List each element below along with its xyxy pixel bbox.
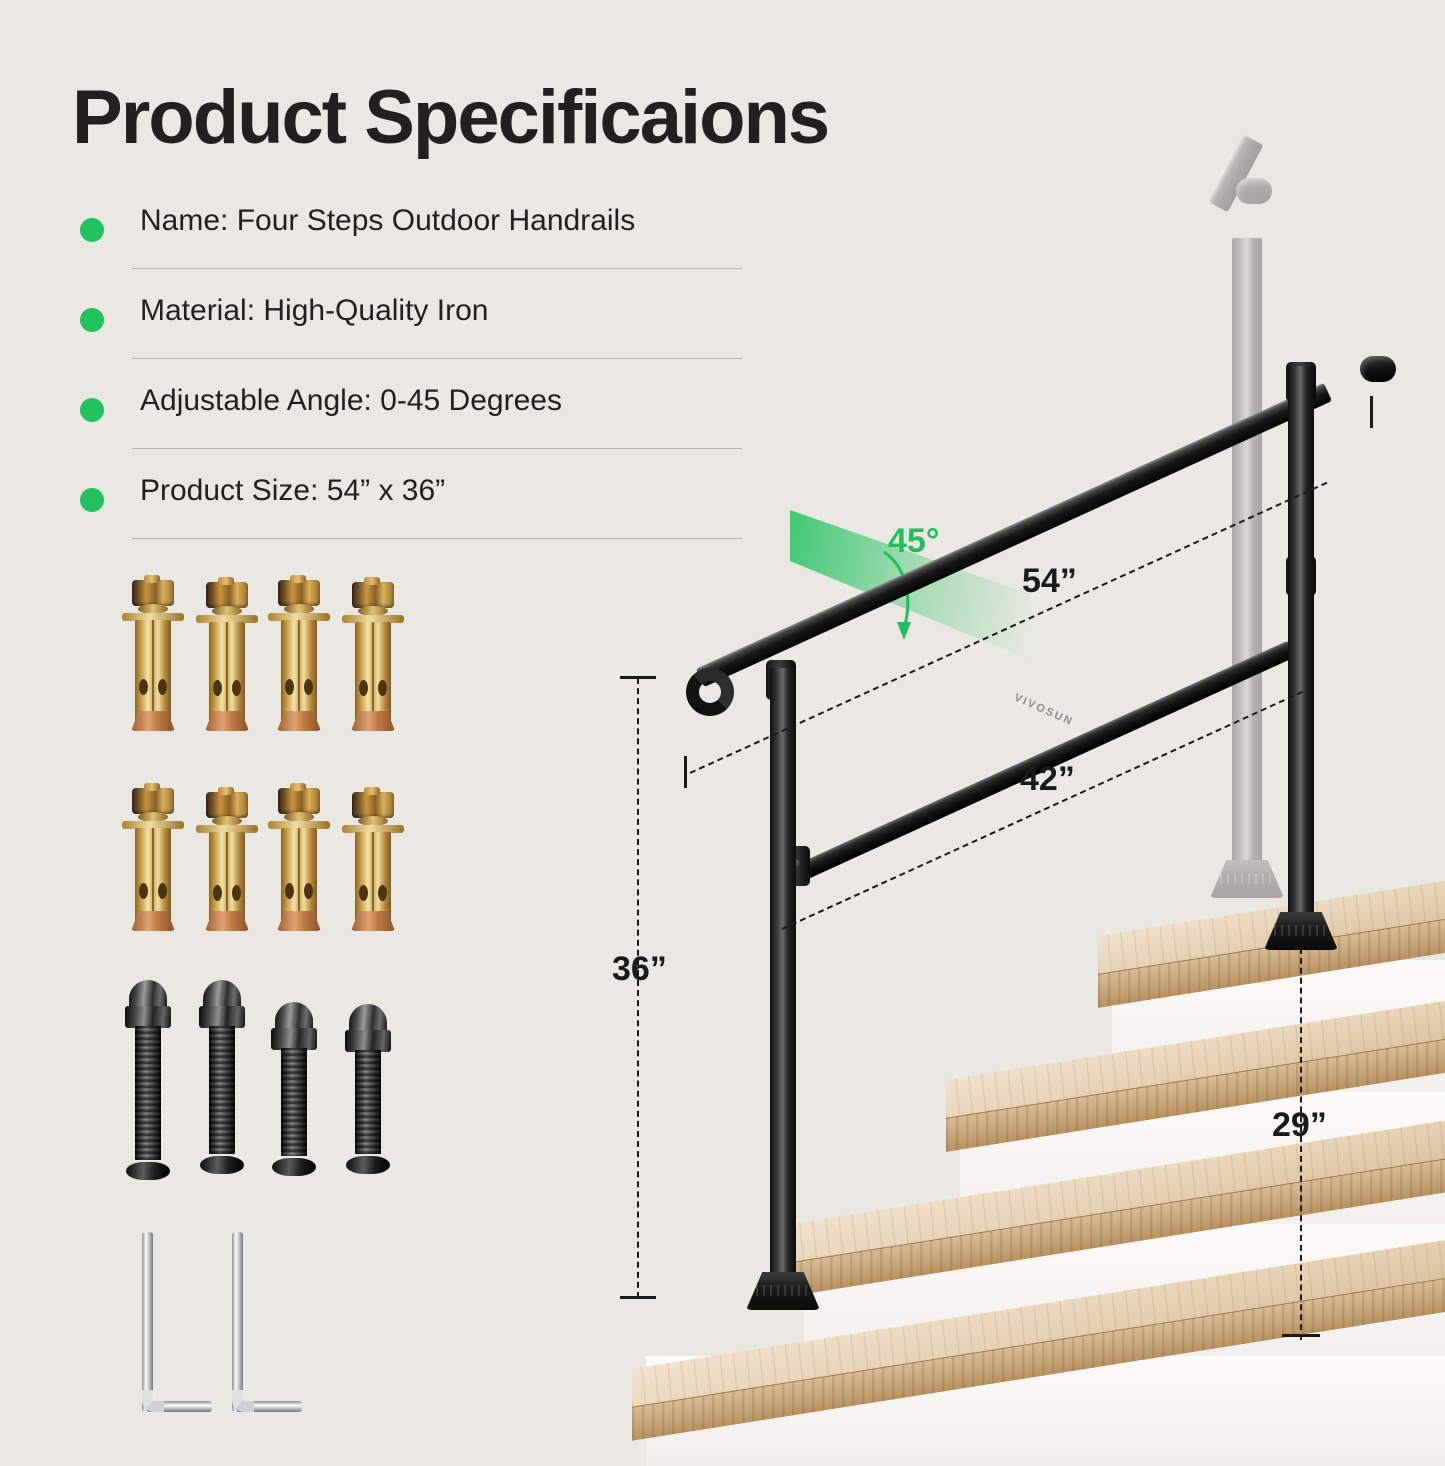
- handrail-diagram: 45° VIVOSUN 36”: [560, 0, 1445, 1445]
- dimension-label-36: 36”: [612, 950, 667, 989]
- ghost-rail-cap: [1236, 178, 1272, 204]
- anchor-bolt-icon: [342, 582, 404, 730]
- dimension-tick: [1370, 396, 1373, 428]
- dimension-label-54: 54”: [1022, 562, 1077, 601]
- anchor-bolt-icon: [268, 580, 330, 730]
- handrail-post-left: [770, 668, 796, 1298]
- anchor-bolt-icon: [268, 788, 330, 930]
- allen-key-icon: [142, 1232, 222, 1412]
- allen-key-icon: [232, 1232, 312, 1412]
- brand-mark: VIVOSUN: [1012, 692, 1075, 729]
- dimension-label-42: 42”: [1020, 760, 1075, 799]
- spec-label: Product Size: 54” x 36”: [140, 474, 445, 508]
- handrail-scroll-end: [686, 658, 748, 716]
- cap-bolt-icon: [118, 980, 178, 1178]
- anchor-bolt-icon: [122, 788, 184, 930]
- cap-bolt-icon: [264, 1002, 324, 1174]
- bullet-icon: [80, 308, 104, 332]
- anchor-bolt-icon: [196, 792, 258, 930]
- handrail-end-cap: [1360, 356, 1396, 382]
- bullet-icon: [80, 218, 104, 242]
- dimension-tick: [620, 1296, 656, 1299]
- ghost-post-base: [1210, 860, 1284, 898]
- spec-label: Material: High-Quality Iron: [140, 294, 488, 328]
- handrail-post-right: [1288, 366, 1314, 936]
- spec-label: Adjustable Angle: 0-45 Degrees: [140, 384, 562, 418]
- ghost-post: [1232, 238, 1262, 878]
- cap-bolt-icon: [192, 980, 252, 1172]
- cap-bolt-icon: [338, 1004, 398, 1172]
- dimension-tick: [684, 756, 687, 788]
- anchor-bolt-icon: [122, 580, 184, 730]
- dimension-label-29: 29”: [1272, 1106, 1327, 1145]
- bullet-icon: [80, 488, 104, 512]
- bullet-icon: [80, 398, 104, 422]
- dimension-tick: [1282, 1334, 1320, 1337]
- anchor-bolt-icon: [196, 582, 258, 730]
- anchor-bolt-icon: [342, 792, 404, 930]
